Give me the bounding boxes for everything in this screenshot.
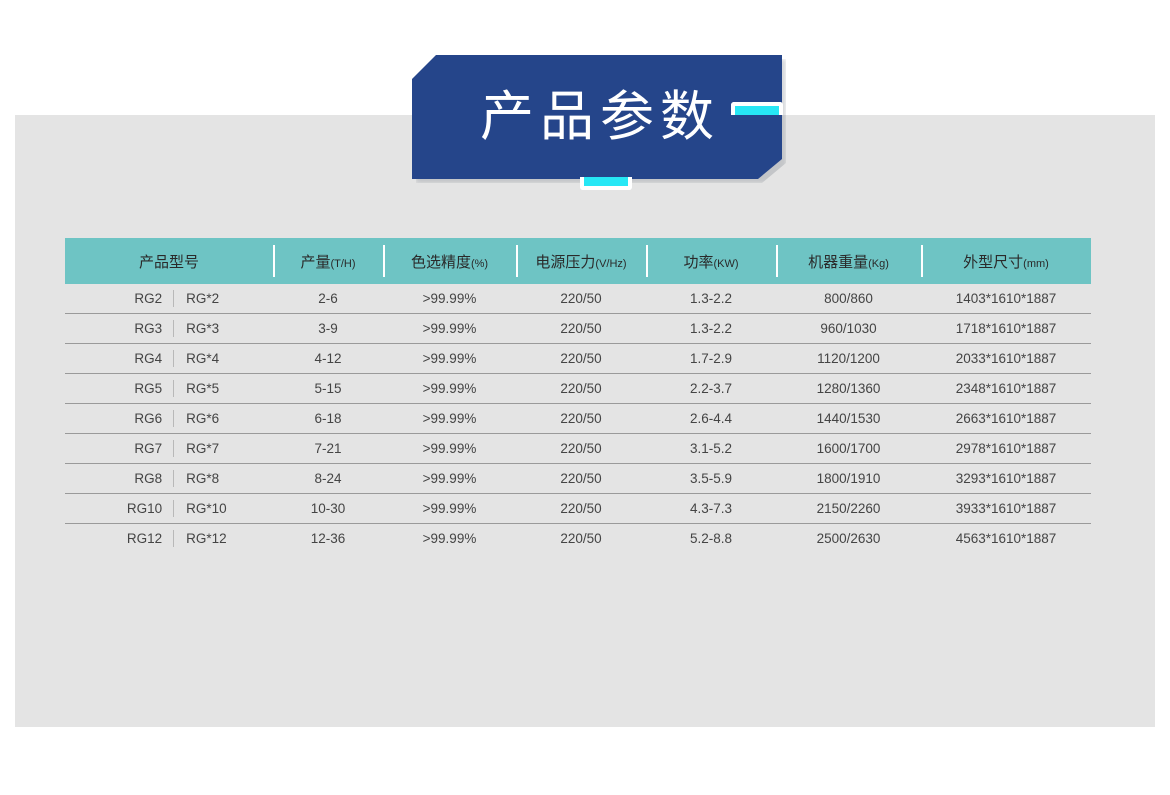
cell-accuracy: >99.99% <box>383 434 516 464</box>
cell-model-secondary: RG*4 <box>173 350 273 367</box>
cell-weight: 1800/1910 <box>776 464 921 494</box>
cell-model-primary: RG4 <box>65 351 173 366</box>
accent-tab-bottom-icon <box>580 177 632 190</box>
cell-weight: 1600/1700 <box>776 434 921 464</box>
cell-voltage: 220/50 <box>516 284 646 314</box>
table-row: RG2RG*22-6>99.99%220/501.3-2.2800/860140… <box>65 284 1091 314</box>
cell-output: 10-30 <box>273 494 383 524</box>
cell-model: RG7RG*7 <box>65 434 273 464</box>
cell-dimensions: 2663*1610*1887 <box>921 404 1091 434</box>
cell-accuracy: >99.99% <box>383 314 516 344</box>
cell-model-primary: RG6 <box>65 411 173 426</box>
cell-output: 7-21 <box>273 434 383 464</box>
cell-model: RG8RG*8 <box>65 464 273 494</box>
column-header-model-label: 产品型号 <box>139 254 199 271</box>
cell-model-secondary: RG*12 <box>173 530 273 547</box>
model-pair: RG10RG*10 <box>65 494 273 523</box>
table-row: RG7RG*77-21>99.99%220/503.1-5.21600/1700… <box>65 434 1091 464</box>
cell-voltage: 220/50 <box>516 464 646 494</box>
column-header-accuracy-unit: (%) <box>471 258 488 270</box>
cell-model: RG2RG*2 <box>65 284 273 314</box>
cell-voltage: 220/50 <box>516 404 646 434</box>
table-row: RG5RG*55-15>99.99%220/502.2-3.71280/1360… <box>65 374 1091 404</box>
cell-model-primary: RG12 <box>65 531 173 546</box>
cell-model-primary: RG10 <box>65 501 173 516</box>
column-header-weight-label: 机器重量 <box>808 254 868 271</box>
column-header-output: 产量(T/H) <box>273 238 383 284</box>
table-row: RG3RG*33-9>99.99%220/501.3-2.2960/103017… <box>65 314 1091 344</box>
table-row: RG6RG*66-18>99.99%220/502.6-4.41440/1530… <box>65 404 1091 434</box>
cell-weight: 1120/1200 <box>776 344 921 374</box>
column-header-dimensions: 外型尺寸(mm) <box>921 238 1091 284</box>
cell-weight: 2150/2260 <box>776 494 921 524</box>
cell-model-secondary: RG*2 <box>173 290 273 307</box>
cell-voltage: 220/50 <box>516 524 646 554</box>
cell-model: RG3RG*3 <box>65 314 273 344</box>
cell-power: 1.3-2.2 <box>646 314 776 344</box>
cell-dimensions: 4563*1610*1887 <box>921 524 1091 554</box>
cell-weight: 960/1030 <box>776 314 921 344</box>
cell-model-secondary: RG*8 <box>173 470 273 487</box>
column-header-voltage-label: 电源压力 <box>535 254 595 271</box>
column-header-power: 功率(KW) <box>646 238 776 284</box>
cell-dimensions: 2978*1610*1887 <box>921 434 1091 464</box>
model-pair: RG12RG*12 <box>65 524 273 553</box>
column-header-weight-unit: (Kg) <box>868 258 889 270</box>
model-pair: RG3RG*3 <box>65 314 273 343</box>
cell-power: 3.5-5.9 <box>646 464 776 494</box>
model-pair: RG2RG*2 <box>65 284 273 313</box>
cell-model: RG4RG*4 <box>65 344 273 374</box>
column-header-voltage: 电源压力(V/Hz) <box>516 238 646 284</box>
cell-model-primary: RG2 <box>65 291 173 306</box>
model-pair: RG6RG*6 <box>65 404 273 433</box>
cell-power: 3.1-5.2 <box>646 434 776 464</box>
cell-model: RG5RG*5 <box>65 374 273 404</box>
accent-tab-top-icon <box>731 102 783 115</box>
cell-model-primary: RG5 <box>65 381 173 396</box>
table-row: RG10RG*1010-30>99.99%220/504.3-7.32150/2… <box>65 494 1091 524</box>
cell-model-secondary: RG*6 <box>173 410 273 427</box>
column-header-dimensions-unit: (mm) <box>1023 258 1049 270</box>
cell-power: 1.7-2.9 <box>646 344 776 374</box>
cell-model: RG6RG*6 <box>65 404 273 434</box>
cell-voltage: 220/50 <box>516 344 646 374</box>
cell-power: 4.3-7.3 <box>646 494 776 524</box>
cell-dimensions: 2033*1610*1887 <box>921 344 1091 374</box>
table-header-row: 产品型号 产量(T/H) 色选精度(%) 电源压力(V/Hz) 功率(KW) 机… <box>65 238 1091 284</box>
page-root: 产品参数 产品型号 产量(T/H) 色选精度(%) 电源压力(V/Hz) 功率(… <box>0 0 1170 795</box>
cell-dimensions: 1403*1610*1887 <box>921 284 1091 314</box>
column-header-weight: 机器重量(Kg) <box>776 238 921 284</box>
cell-voltage: 220/50 <box>516 374 646 404</box>
cell-accuracy: >99.99% <box>383 404 516 434</box>
model-pair: RG7RG*7 <box>65 434 273 463</box>
table-row: RG8RG*88-24>99.99%220/503.5-5.91800/1910… <box>65 464 1091 494</box>
column-header-dimensions-label: 外型尺寸 <box>963 254 1023 271</box>
cell-model-primary: RG3 <box>65 321 173 336</box>
page-title: 产品参数 <box>412 55 782 179</box>
column-header-accuracy: 色选精度(%) <box>383 238 516 284</box>
cell-output: 4-12 <box>273 344 383 374</box>
cell-model: RG12RG*12 <box>65 524 273 554</box>
cell-dimensions: 3293*1610*1887 <box>921 464 1091 494</box>
cell-dimensions: 1718*1610*1887 <box>921 314 1091 344</box>
cell-power: 2.2-3.7 <box>646 374 776 404</box>
cell-output: 2-6 <box>273 284 383 314</box>
table-header: 产品型号 产量(T/H) 色选精度(%) 电源压力(V/Hz) 功率(KW) 机… <box>65 238 1091 284</box>
cell-model-secondary: RG*5 <box>173 380 273 397</box>
cell-model: RG10RG*10 <box>65 494 273 524</box>
model-pair: RG5RG*5 <box>65 374 273 403</box>
column-header-model: 产品型号 <box>65 238 273 284</box>
column-header-power-label: 功率 <box>683 254 713 271</box>
cell-model-primary: RG7 <box>65 441 173 456</box>
cell-accuracy: >99.99% <box>383 284 516 314</box>
cell-power: 1.3-2.2 <box>646 284 776 314</box>
cell-output: 6-18 <box>273 404 383 434</box>
table-body: RG2RG*22-6>99.99%220/501.3-2.2800/860140… <box>65 284 1091 553</box>
cell-power: 2.6-4.4 <box>646 404 776 434</box>
cell-output: 5-15 <box>273 374 383 404</box>
cell-accuracy: >99.99% <box>383 494 516 524</box>
cell-voltage: 220/50 <box>516 494 646 524</box>
cell-weight: 2500/2630 <box>776 524 921 554</box>
cell-model-secondary: RG*3 <box>173 320 273 337</box>
cell-accuracy: >99.99% <box>383 344 516 374</box>
cell-dimensions: 3933*1610*1887 <box>921 494 1091 524</box>
cell-voltage: 220/50 <box>516 314 646 344</box>
column-header-output-unit: (T/H) <box>330 258 355 270</box>
cell-accuracy: >99.99% <box>383 464 516 494</box>
cell-accuracy: >99.99% <box>383 524 516 554</box>
cell-voltage: 220/50 <box>516 434 646 464</box>
cell-power: 5.2-8.8 <box>646 524 776 554</box>
cell-output: 12-36 <box>273 524 383 554</box>
cell-weight: 800/860 <box>776 284 921 314</box>
cell-weight: 1280/1360 <box>776 374 921 404</box>
cell-output: 3-9 <box>273 314 383 344</box>
cell-model-secondary: RG*7 <box>173 440 273 457</box>
column-header-power-unit: (KW) <box>713 258 738 270</box>
cell-output: 8-24 <box>273 464 383 494</box>
column-header-output-label: 产量 <box>300 254 330 271</box>
table-row: RG12RG*1212-36>99.99%220/505.2-8.82500/2… <box>65 524 1091 554</box>
table-row: RG4RG*44-12>99.99%220/501.7-2.91120/1200… <box>65 344 1091 374</box>
model-pair: RG8RG*8 <box>65 464 273 493</box>
cell-weight: 1440/1530 <box>776 404 921 434</box>
column-header-accuracy-label: 色选精度 <box>411 254 471 271</box>
title-banner: 产品参数 <box>412 55 786 183</box>
cell-model-secondary: RG*10 <box>173 500 273 517</box>
cell-dimensions: 2348*1610*1887 <box>921 374 1091 404</box>
cell-accuracy: >99.99% <box>383 374 516 404</box>
column-header-voltage-unit: (V/Hz) <box>595 258 626 270</box>
product-specification-table: 产品型号 产量(T/H) 色选精度(%) 电源压力(V/Hz) 功率(KW) 机… <box>65 238 1091 553</box>
cell-model-primary: RG8 <box>65 471 173 486</box>
model-pair: RG4RG*4 <box>65 344 273 373</box>
